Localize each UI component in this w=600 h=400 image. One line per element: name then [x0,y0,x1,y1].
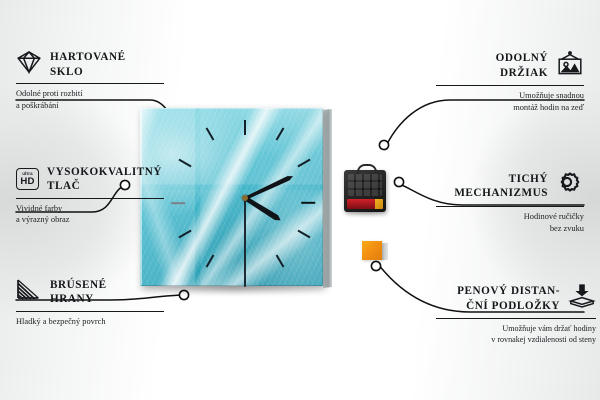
product-infographic: HARTOVANÉ SKLO Odolné proti rozbití a po… [0,0,600,400]
aa-battery [347,199,383,209]
feature-title-line1: HARTOVANÉ [50,50,126,64]
feature-desc-line2: montáž hodin na zeď [436,102,584,114]
feature-divider [16,83,164,84]
callout-marker-holder [379,140,388,149]
clock-center-pin [242,195,248,201]
gear-icon [556,170,584,202]
feature-desc-line1: Odolné proti rozbití [16,88,164,100]
feature-silent-mechanism: TICHÝ MECHANIZMUS Hodinové ručičky bez z… [436,170,584,234]
feature-divider [436,206,584,207]
clock-second-hand [244,197,246,287]
sanded-edges-icon [16,278,42,306]
feature-desc-line2: a poškrábání [16,100,164,112]
feature-desc-line1: Hladký a bezpečný povrch [16,316,164,328]
feature-title-line2: DRŽIAK [496,66,548,80]
feature-title-line2: TLAČ [47,179,162,193]
feature-desc-line2: a výrazný obraz [16,214,164,226]
feature-title-line1: VYSOKOKVALITNÝ [47,165,162,179]
feature-title-line1: TICHÝ [454,172,548,186]
feature-high-quality-print: ultra HD VYSOKOKVALITNÝ TLAČ Vividné far… [16,165,164,226]
ultra-hd-badge-icon: ultra HD [16,168,39,190]
feature-divider [16,311,164,312]
feature-tempered-glass: HARTOVANÉ SKLO Odolné proti rozbití a po… [16,50,164,111]
diamond-icon [16,50,42,79]
feature-title-line1: ODOLNÝ [496,51,548,65]
feature-desc-line1: Umožňuje vám držať hodiny [436,323,596,334]
feature-title-line2: ČNÍ PODLOŽKY [457,299,560,313]
feature-desc-line1: Vividné farby [16,203,164,215]
clock-mechanism-unit [344,170,386,212]
glass-wall-clock [140,108,323,286]
feature-title-line2: MECHANIZMUS [454,186,548,200]
feature-title-line1: BRÚSENÉ [50,278,107,292]
feature-divider [436,85,584,86]
feature-title-line1: PENOVÝ DISTAN- [457,284,560,298]
feature-divider [436,318,596,319]
foam-pad-side [382,243,388,261]
mechanism-housing-texture [348,174,382,196]
clock-glass-side-edge [323,109,332,288]
feature-desc-line2: v rovnakej vzdialenosti od steny [436,334,596,345]
ultra-hd-large-text: HD [20,177,34,187]
feature-durable-holder: ODOLNÝ DRŽIAK Umožňuje snadnou montáž ho… [436,50,584,113]
picture-frame-hanger-icon [556,50,584,81]
feature-foam-spacers: PENOVÝ DISTAN- ČNÍ PODLOŽKY Umožňuje vám… [436,283,596,345]
foam-spacer-pad [362,241,382,260]
feature-title-line2: SKLO [50,65,126,79]
feature-divider [16,198,164,199]
feature-desc-line1: Umožňuje snadnou [436,90,584,102]
feature-desc-line1: Hodinové ručičky [436,211,584,223]
foam-spacer-icon [568,283,596,314]
feature-title-line2: HRANY [50,292,107,306]
callout-marker-foam [371,261,380,270]
feature-sanded-edges: BRÚSENÉ HRANY Hladký a bezpečný povrch [16,278,164,327]
clock-glass-edge [140,108,323,286]
feature-desc-line2: bez zvuku [436,223,584,235]
callout-marker-mechanism [394,177,403,186]
